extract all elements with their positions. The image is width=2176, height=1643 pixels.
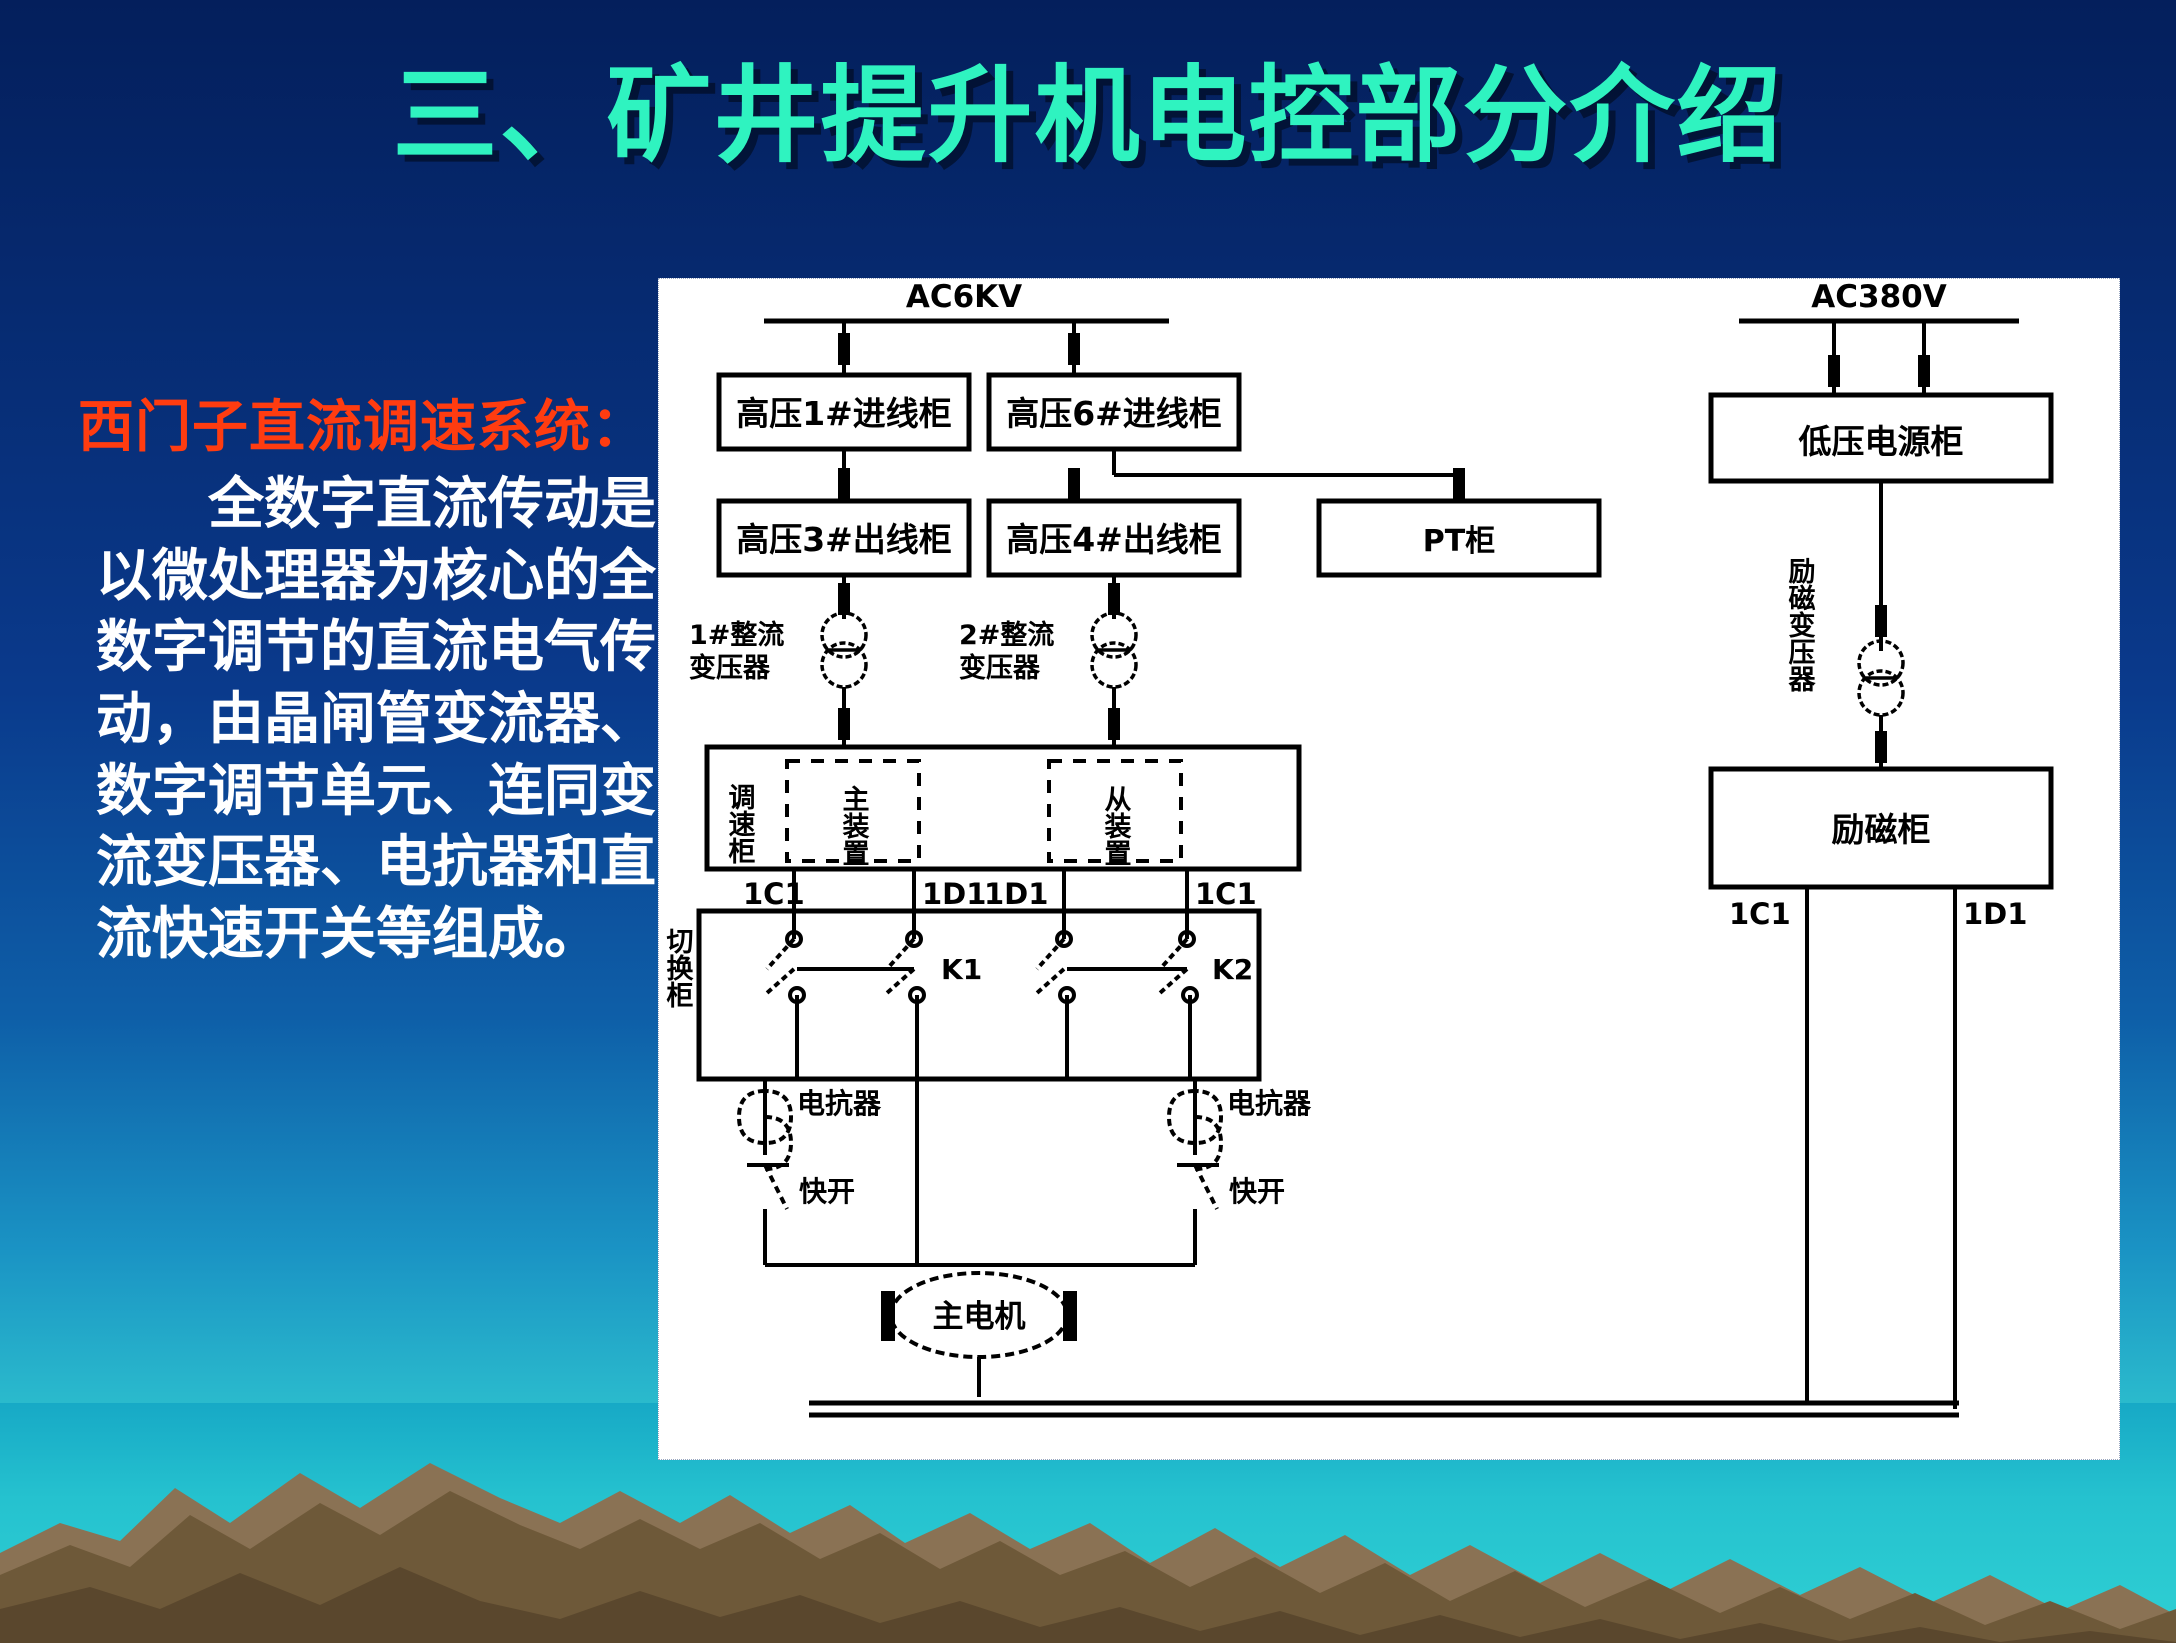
box-motor: 主电机 [933, 1299, 1026, 1335]
label-transformer-2: 2#整流 [959, 620, 1054, 651]
box-hv4-out: 高压4#出线柜 [1006, 520, 1222, 559]
fuse-hv6 [1068, 333, 1080, 365]
box-hv6-in: 高压6#进线柜 [1006, 394, 1222, 433]
box-excitation: 励磁柜 [1832, 810, 1931, 849]
label-excitation-transformer: 励磁变压器 [1784, 557, 1817, 693]
excitation-transformer-symbol [1859, 641, 1903, 715]
transformer-1-symbol [822, 613, 866, 687]
terminal-1c1-excitation: 1C1 [1729, 897, 1791, 931]
fuse-t1 [838, 583, 850, 615]
box-lv-power: 低压电源柜 [1799, 422, 1964, 461]
fuse-lv-a [1828, 355, 1840, 387]
fuse-t2 [1108, 583, 1120, 615]
label-reactor-left: 电抗器 [797, 1087, 882, 1120]
label-ac6kv: AC6KV [906, 279, 1022, 315]
label-switch-cabinet: 切换柜 [662, 927, 694, 1008]
slide-canvas: 三、矿井提升机电控部分介绍 西门子直流调速系统： 全数字直流传动是以微处理器为核… [0, 0, 2176, 1643]
box-pt: PT柜 [1423, 524, 1495, 559]
fuse-lv-b [1918, 355, 1930, 387]
section-lead: 西门子直流调速系统： [78, 382, 638, 463]
terminal-1c1-b: 1C1 [1195, 877, 1257, 911]
label-reactor-right: 电抗器 [1227, 1087, 1312, 1120]
label-breaker-right: 快开 [1229, 1175, 1285, 1208]
box-hv1-in: 高压1#进线柜 [736, 394, 952, 433]
label-speed-cabinet: 调速柜 [724, 783, 756, 864]
terminal-1d1-excitation: 1D1 [1963, 897, 2027, 931]
fuse-hv3 [838, 468, 850, 500]
single-line-diagram: AC6KV 高压1#进线柜 高压6#进线柜 高压3#出线柜 [658, 278, 2120, 1460]
terminal-1c1-a: 1C1 [743, 877, 805, 911]
terminal-1d1-b: 1D1 [984, 877, 1048, 911]
label-slave-device: 从装置 [1100, 785, 1132, 866]
transformer-2-symbol [1092, 613, 1136, 687]
box-hv3-out: 高压3#出线柜 [736, 520, 952, 559]
label-master-device: 主装置 [838, 785, 870, 866]
label-k2: K2 [1212, 953, 1253, 986]
fuse-reg1 [838, 708, 850, 740]
section-body: 全数字直流传动是以微处理器为核心的全数字调节的直流电气传动，由晶闸管变流器、数字… [96, 468, 656, 970]
slide-title: 三、矿井提升机电控部分介绍 [0, 58, 2176, 176]
fuse-excitation-transformer [1875, 605, 1887, 637]
label-k1: K1 [941, 953, 982, 986]
fuse-excitation-cabinet [1875, 731, 1887, 763]
fuse-reg2 [1108, 708, 1120, 740]
label-breaker-left: 快开 [799, 1175, 855, 1208]
fuse-hv1 [838, 333, 850, 365]
terminal-1d1-a: 1D1 [922, 877, 986, 911]
label-ac380v: AC380V [1811, 279, 1946, 315]
svg-text:变压器: 变压器 [959, 652, 1041, 684]
label-transformer-1: 1#整流 [689, 620, 784, 651]
svg-text:变压器: 变压器 [689, 652, 771, 684]
fuse-hv4 [1068, 468, 1080, 500]
fuse-pt [1453, 468, 1465, 500]
